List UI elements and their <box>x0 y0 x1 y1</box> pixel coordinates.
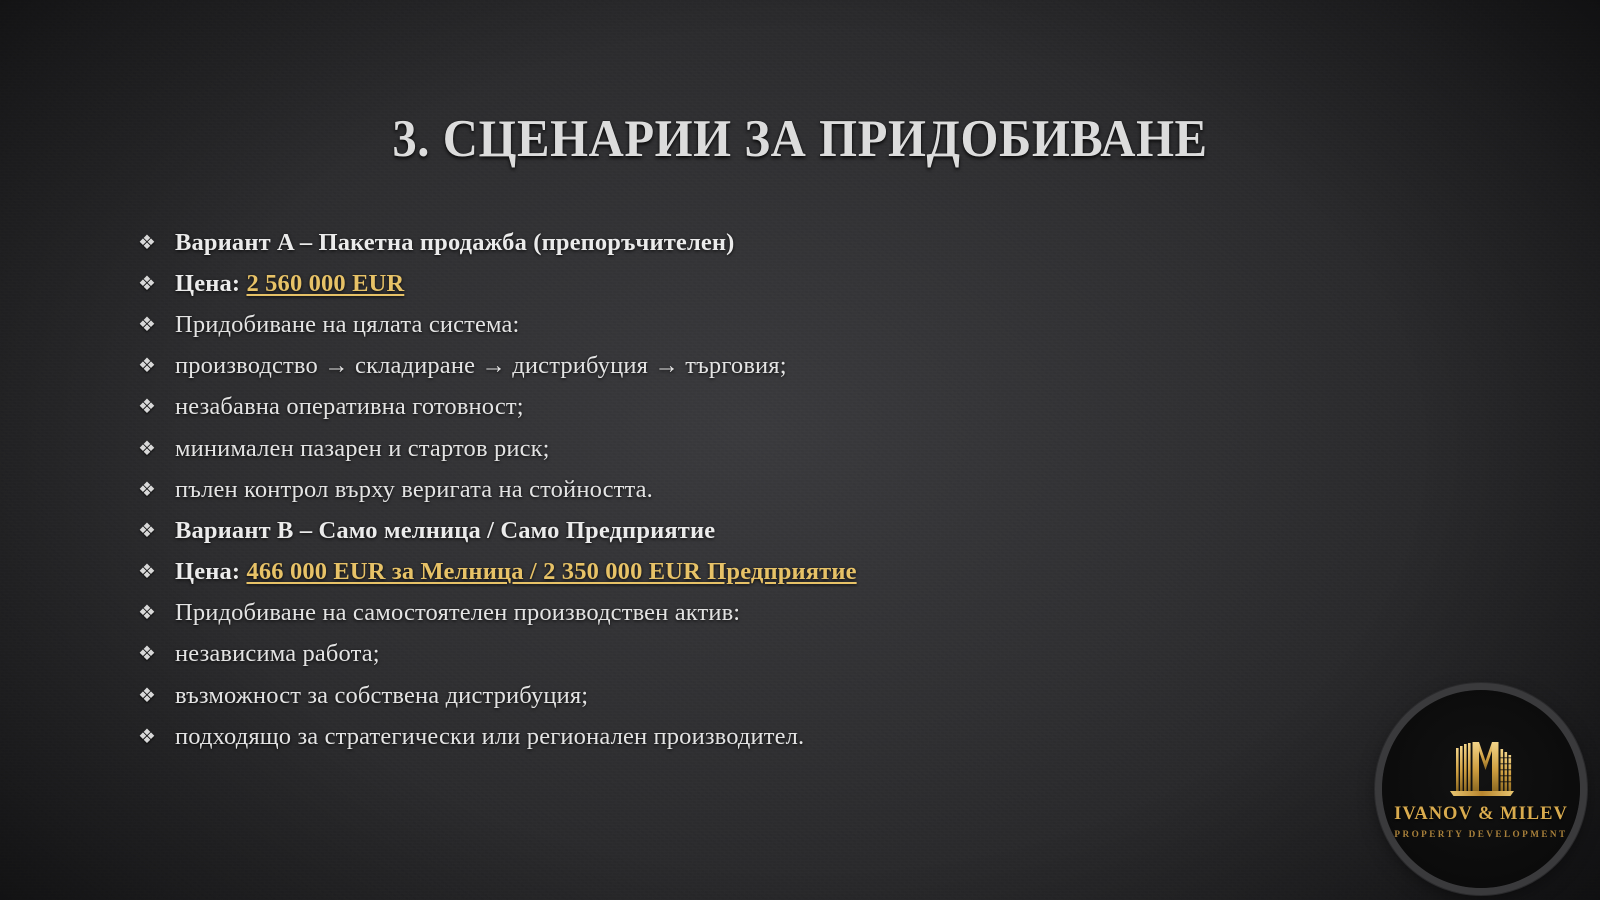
list-item-label: Придобиване на цялата система: <box>175 310 520 340</box>
list-item: ❖минимален пазарен и стартов риск; <box>136 428 1336 469</box>
list-item: ❖незабавна оперативна готовност; <box>136 387 1336 428</box>
list-item: ❖Вариант A – Пакетна продажба (препоръчи… <box>136 222 1336 263</box>
list-item-label: Придобиване на самостоятелен производств… <box>175 598 740 628</box>
list-item-label: подходящо за стратегически или регионале… <box>175 722 804 752</box>
diamond-bullet-icon: ❖ <box>136 439 175 459</box>
list-item-label: независима работа; <box>175 639 380 669</box>
diamond-bullet-icon: ❖ <box>136 233 175 253</box>
list-item: ❖Вариант B – Само мелница / Само Предпри… <box>136 510 1336 551</box>
list-item-label: незабавна оперативна готовност; <box>175 392 524 422</box>
list-item-label: Вариант A – Пакетна продажба (препоръчит… <box>175 228 734 258</box>
diamond-bullet-icon: ❖ <box>136 397 175 417</box>
diamond-bullet-icon: ❖ <box>136 644 175 664</box>
diamond-bullet-icon: ❖ <box>136 274 175 294</box>
price-value: 466 000 EUR за Мелница / 2 350 000 EUR П… <box>246 558 856 585</box>
diamond-bullet-icon: ❖ <box>136 521 175 541</box>
list-item-prefix: Цена: <box>175 270 246 297</box>
list-item-label: минимален пазарен и стартов риск; <box>175 434 550 464</box>
list-item: ❖възможност за собствена дистрибуция; <box>136 675 1336 716</box>
diamond-bullet-icon: ❖ <box>136 480 175 500</box>
logo-tagline: PROPERTY DEVELOPMENT <box>1394 828 1567 840</box>
list-item-label: пълен контрол върху веригата на стойност… <box>175 475 653 505</box>
list-item-label: възможност за собствена дистрибуция; <box>175 681 588 711</box>
list-item-label: Цена: 466 000 EUR за Мелница / 2 350 000… <box>175 557 857 587</box>
list-item: ❖независима работа; <box>136 634 1336 675</box>
list-item-label: производство → складиране → дистрибуция … <box>175 351 787 381</box>
list-item: ❖Цена: 466 000 EUR за Мелница / 2 350 00… <box>136 552 1336 593</box>
list-item: ❖Придобиване на самостоятелен производст… <box>136 593 1336 634</box>
slide-title: 3. СЦЕНАРИИ ЗА ПРИДОБИВАНЕ <box>64 108 1536 170</box>
list-item-label: Вариант B – Само мелница / Само Предприя… <box>175 516 715 546</box>
presentation-slide: 3. СЦЕНАРИИ ЗА ПРИДОБИВАНЕ ❖Вариант A – … <box>0 0 1600 900</box>
list-item: ❖пълен контрол върху веригата на стойнос… <box>136 469 1336 510</box>
list-item-prefix: Цена: <box>175 558 246 585</box>
logo-company-name: IVANOV & MILEV <box>1394 804 1568 825</box>
diamond-bullet-icon: ❖ <box>136 603 175 623</box>
list-item: ❖подходящо за стратегически или регионал… <box>136 716 1336 757</box>
list-item-label: Цена: 2 560 000 EUR <box>175 269 404 299</box>
price-value: 2 560 000 EUR <box>246 270 404 297</box>
list-item: ❖производство → складиране → дистрибуция… <box>136 346 1336 387</box>
company-logo-badge: IVANOV & MILEV PROPERTY DEVELOPMENT <box>1382 690 1580 888</box>
diamond-bullet-icon: ❖ <box>136 562 175 582</box>
list-item: ❖Цена: 2 560 000 EUR <box>136 263 1336 304</box>
list-item: ❖Придобиване на цялата система: <box>136 304 1336 345</box>
diamond-bullet-icon: ❖ <box>136 727 175 747</box>
diamond-bullet-icon: ❖ <box>136 356 175 376</box>
diamond-bullet-icon: ❖ <box>136 686 175 706</box>
bullet-list: ❖Вариант A – Пакетна продажба (препоръчи… <box>136 222 1336 757</box>
diamond-bullet-icon: ❖ <box>136 315 175 335</box>
m-building-monogram-icon <box>1440 739 1522 797</box>
